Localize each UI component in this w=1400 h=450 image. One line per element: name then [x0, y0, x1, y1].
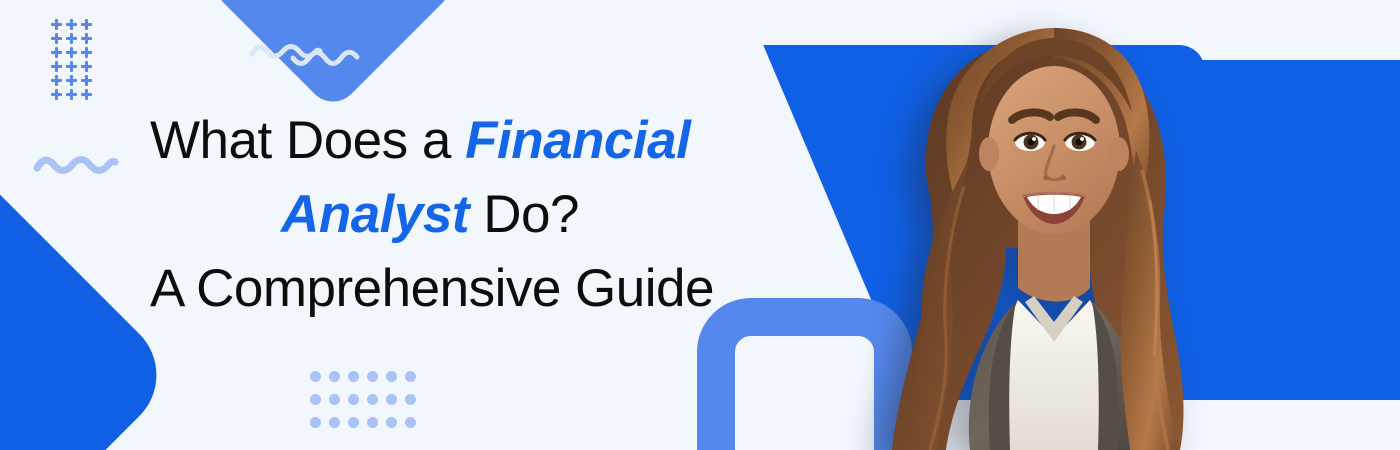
plus-icon	[81, 47, 92, 58]
dot-icon	[310, 417, 321, 428]
headline-line-2-plain: Do?	[469, 185, 579, 244]
plus-icon	[51, 33, 62, 44]
headline-line-3: A Comprehensive Guide	[150, 252, 710, 326]
dot-icon	[405, 394, 416, 405]
nostril-right	[1060, 176, 1066, 180]
dot-icon	[386, 394, 397, 405]
headline-accent-analyst: Analyst	[281, 185, 469, 244]
plus-icon	[51, 61, 62, 72]
eye-left	[1015, 133, 1045, 151]
dot-icon	[367, 417, 378, 428]
squiggle-icon-top-b	[288, 44, 366, 77]
dot-icon	[329, 371, 340, 382]
plus-icon	[66, 19, 77, 30]
banner: What Does a Financial Analyst Do? A Comp…	[0, 0, 1400, 450]
dot-icon	[386, 371, 397, 382]
dot-icon	[405, 371, 416, 382]
headline-line-1-plain: What Does a	[150, 111, 465, 170]
plus-icon	[81, 89, 92, 100]
decorative-cross-grid	[51, 19, 96, 103]
ear-right	[1109, 137, 1129, 171]
plus-icon	[81, 19, 92, 30]
dot-icon	[348, 417, 359, 428]
headline-line-2: Analyst Do?	[150, 178, 710, 252]
plus-icon	[81, 61, 92, 72]
dot-icon	[367, 371, 378, 382]
dot-icon	[367, 394, 378, 405]
nostril-left	[1043, 176, 1049, 180]
plus-icon	[66, 61, 77, 72]
portrait-photo	[878, 0, 1234, 450]
eye-right	[1065, 133, 1095, 151]
plus-icon	[51, 47, 62, 58]
portrait-photo-illustration	[878, 0, 1234, 450]
banner-headline: What Does a Financial Analyst Do? A Comp…	[150, 104, 710, 326]
dot-icon	[310, 371, 321, 382]
plus-icon	[51, 89, 62, 100]
dot-icon	[386, 417, 397, 428]
plus-icon	[81, 75, 92, 86]
dot-icon	[329, 417, 340, 428]
headline-line-1: What Does a Financial	[150, 104, 710, 178]
dot-icon	[348, 394, 359, 405]
plus-icon	[51, 75, 62, 86]
plus-icon	[66, 33, 77, 44]
plus-icon	[51, 19, 62, 30]
decorative-dot-grid	[310, 371, 424, 440]
plus-icon	[66, 89, 77, 100]
headline-accent-financial: Financial	[465, 111, 690, 170]
squiggle-icon-left	[33, 150, 119, 185]
plus-icon	[66, 75, 77, 86]
dot-icon	[405, 417, 416, 428]
plus-icon	[66, 47, 77, 58]
dot-icon	[310, 394, 321, 405]
plus-icon	[81, 33, 92, 44]
dot-icon	[329, 394, 340, 405]
dot-icon	[348, 371, 359, 382]
ear-left	[979, 137, 999, 171]
